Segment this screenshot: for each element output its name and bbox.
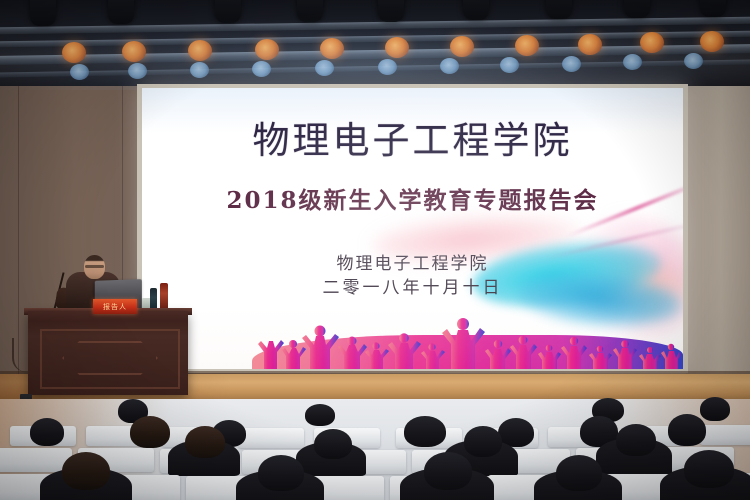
stage-light-fixture-icon [30,0,56,26]
warm-stage-lamp-icon [385,37,409,58]
cool-stage-lamp-icon [190,62,209,78]
slide-organization: 物理电子工程学院 [142,256,683,273]
ceiling-light-truss [0,0,750,86]
slide-date: 二零一八年十月十日 [142,280,683,297]
warm-stage-lamp-icon [578,34,602,55]
warm-stage-lamp-icon [255,39,279,60]
cable [12,338,36,372]
cool-stage-lamp-icon [562,56,581,72]
seat [700,425,750,445]
audience-head [616,424,656,456]
audience-head [464,426,502,457]
lecture-hall-photo: 物理电子工程学院 2018级新生入学教育专题报告会 物理电子工程学院 二零一八年… [0,0,750,500]
nameplate-text: 报告人 [93,302,137,312]
cool-stage-lamp-icon [315,60,334,76]
seat [238,428,304,448]
cool-stage-lamp-icon [378,59,397,75]
cool-stage-lamp-icon [70,64,89,80]
cool-stage-lamp-icon [252,61,271,77]
cool-stage-lamp-icon [500,57,519,73]
audience-head [305,404,335,426]
cool-stage-lamp-icon [623,54,642,70]
audience-head [700,397,730,421]
audience-head [30,418,64,446]
audience-head [130,416,170,448]
cool-stage-lamp-icon [128,63,147,79]
stage-light-fixture-icon [108,0,134,24]
stage-light-fixture-icon [463,0,489,20]
cool-stage-lamp-icon [440,58,459,74]
speaker-nameplate: 报告人 [93,299,137,314]
glasses-icon [85,265,104,268]
stage-light-fixture-icon [215,0,241,23]
slide-subtitle: 2018级新生入学教育专题报告会 [142,189,683,212]
warm-stage-lamp-icon [122,41,146,62]
warm-stage-lamp-icon [188,40,212,61]
podium [28,311,188,395]
stage-light-fixture-icon [378,0,404,22]
audience-head [62,452,110,490]
audience-head [424,452,472,490]
stage-light-fixture-icon [297,0,323,22]
audience-head [668,414,706,446]
warm-stage-lamp-icon [450,36,474,57]
truss-bar [0,31,750,48]
slide-title: 物理电子工程学院 [142,122,683,159]
stage-light-fixture-icon [546,0,572,19]
wall-panel-right [686,62,750,417]
warm-stage-lamp-icon [700,31,724,52]
warm-stage-lamp-icon [62,42,86,63]
warm-stage-lamp-icon [640,32,664,53]
audience-head [404,416,446,447]
audience-head [556,455,602,491]
warm-stage-lamp-icon [515,35,539,56]
audience-head [314,429,352,459]
cool-stage-lamp-icon [684,53,703,69]
audience-head [684,450,734,488]
stage-light-fixture-icon [700,0,726,17]
podium-diamond-inlay [62,341,158,375]
audience-head [185,426,225,458]
slide-text-block: 物理电子工程学院 2018级新生入学教育专题报告会 物理电子工程学院 二零一八年… [142,88,683,369]
stage-light-fixture-icon [624,0,650,18]
projection-screen: 物理电子工程学院 2018级新生入学教育专题报告会 物理电子工程学院 二零一八年… [142,88,683,369]
warm-stage-lamp-icon [320,38,344,59]
audience-head [258,455,304,491]
